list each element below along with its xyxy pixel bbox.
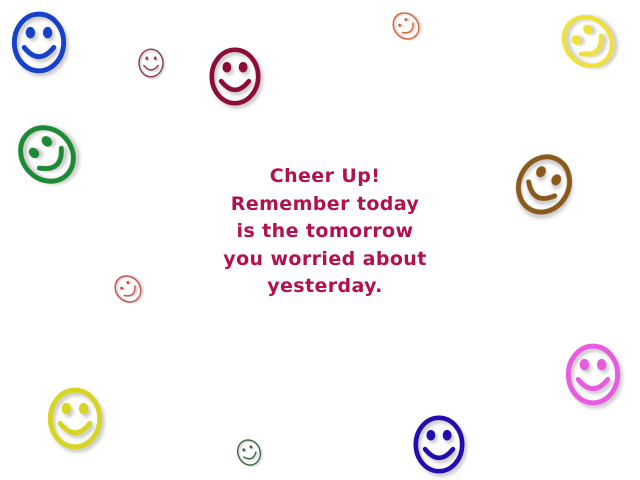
poster-canvas: Cheer Up! Remember today is the tomorrow… [0,0,640,480]
smiley-orange-small-top-glyph [391,9,421,43]
quote-line-3: is the tomorrow [200,218,450,246]
smiley-orange-small-top [391,9,421,43]
smiley-brown-right [513,150,575,219]
smiley-plum-small-top-glyph [136,46,166,80]
smiley-green-left-glyph [16,120,78,189]
smiley-green-small-bottom-glyph [235,437,263,468]
smiley-yellow-top-right [560,10,616,73]
smiley-green-small-bottom [235,437,263,468]
smiley-navy-bottom [410,412,468,477]
quote-line-2: Remember today [200,191,450,219]
smiley-brown-right-glyph [513,150,575,219]
smiley-yellow-bottom-left [44,384,106,453]
smiley-maroon-top-glyph [206,44,264,109]
smiley-maroon-top [206,44,264,109]
smiley-plum-small-top [136,46,166,80]
smiley-magenta-right [562,340,624,409]
smiley-blue-top-left-glyph [8,8,70,77]
smiley-yellow-bottom-left-glyph [44,384,106,453]
smiley-navy-bottom-glyph [410,412,468,477]
quote-line-4: you worried about [200,246,450,274]
smiley-salmon-small-left [113,272,143,306]
quote-text-block: Cheer Up! Remember today is the tomorrow… [200,163,450,301]
quote-line-1: Cheer Up! [200,163,450,191]
smiley-blue-top-left [8,8,70,77]
smiley-salmon-small-left-glyph [113,272,143,306]
smiley-magenta-right-glyph [562,340,624,409]
quote-line-5: yesterday. [200,273,450,301]
smiley-green-left [16,120,78,189]
smiley-yellow-top-right-glyph [560,10,616,73]
